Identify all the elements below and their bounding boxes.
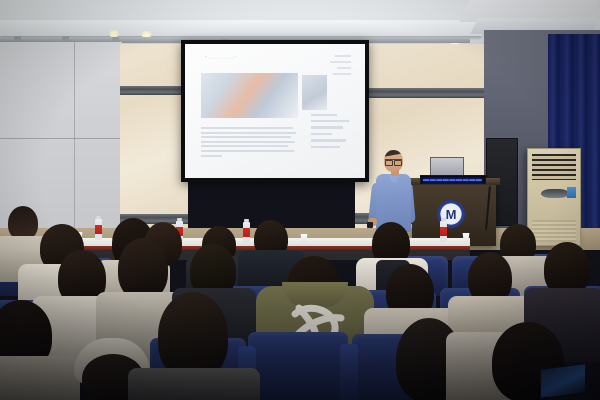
water-bottle	[95, 216, 102, 240]
slide-photo-main	[201, 73, 298, 117]
attendee-torso	[0, 356, 80, 400]
led-display: ▬▬▬▬▬▬▬▬▬	[420, 175, 486, 184]
granite-band-upper-right	[355, 88, 485, 98]
slide-column-top-right	[322, 55, 351, 79]
water-bottle	[440, 218, 447, 242]
seat-armrest	[340, 344, 358, 400]
air-conditioner-label	[567, 187, 576, 198]
attendee-head	[118, 238, 168, 300]
slide-body-text	[201, 127, 296, 159]
attendee-torso	[128, 368, 260, 400]
tablet-device	[540, 363, 586, 399]
laptop-screen	[430, 157, 464, 177]
projection-screen-surface: “··········”	[185, 44, 365, 178]
led-display-text: ▬▬▬▬▬▬▬▬▬	[423, 176, 482, 184]
air-conditioner	[527, 148, 581, 246]
air-conditioner-lower-grille	[532, 220, 576, 242]
slide-column-bottom-right	[311, 114, 352, 152]
wall-panel-marble-left	[120, 44, 188, 234]
projection-screen: “··········”	[181, 40, 369, 182]
presentation-clicker	[367, 222, 373, 228]
attendee-head	[158, 292, 228, 380]
granite-band-upper-left	[120, 86, 188, 95]
auditorium-seat	[248, 332, 348, 400]
air-conditioner-vent	[541, 189, 569, 198]
wall-panel-grey	[0, 42, 122, 232]
attendee-head	[8, 206, 38, 240]
auditorium-photo: “··········” ▬▬▬▬	[0, 0, 600, 400]
slide-title: “··········”	[205, 56, 237, 62]
ceiling-soffit	[0, 20, 482, 36]
air-conditioner-grille	[532, 154, 576, 180]
glasses-icon	[385, 159, 402, 164]
emblem-letter: M	[446, 208, 457, 221]
slide-photo-secondary	[302, 75, 327, 110]
water-bottle	[243, 219, 250, 243]
